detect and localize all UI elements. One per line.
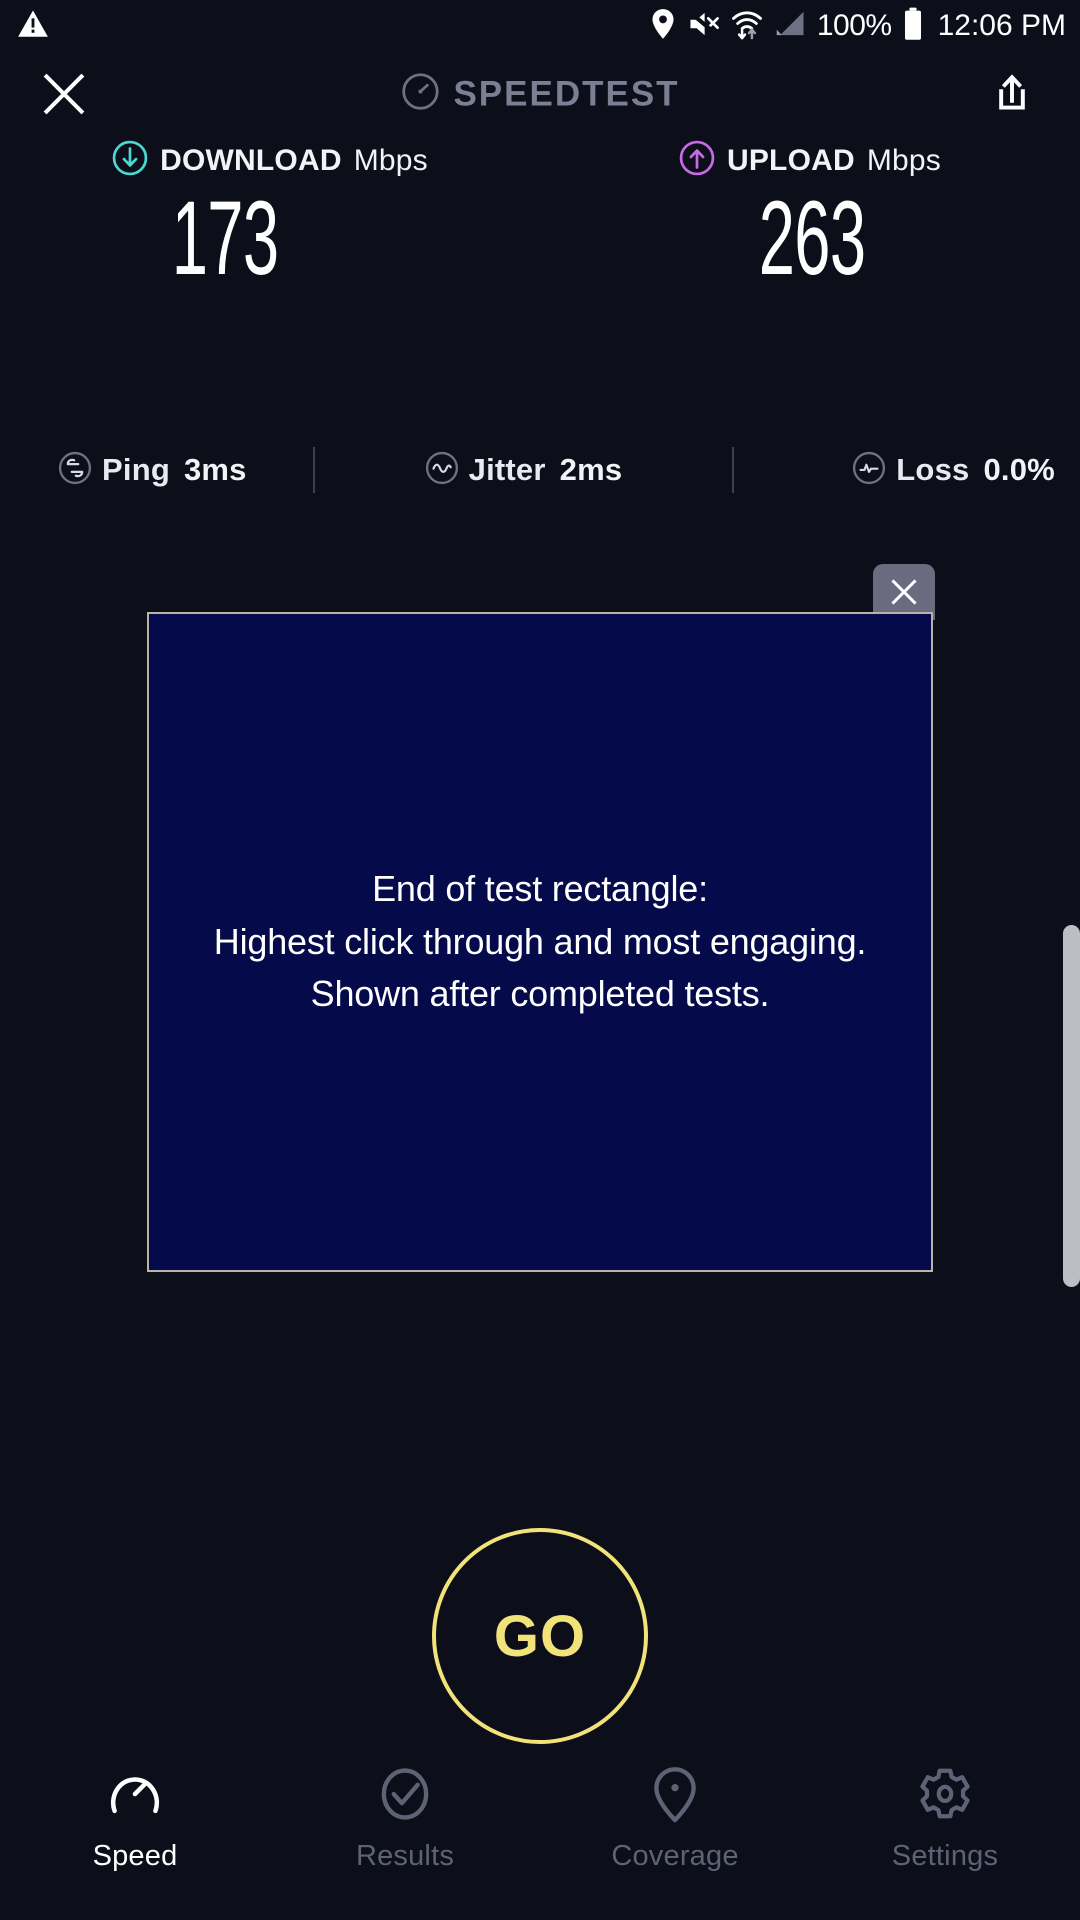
jitter-label: Jitter (469, 452, 546, 488)
nav-label-results: Results (356, 1840, 454, 1873)
metric-jitter: Jitter 2ms (425, 451, 623, 490)
location-pin-icon (644, 1762, 706, 1826)
nav-item-coverage[interactable]: Coverage (540, 1744, 810, 1920)
status-bar-clock: 12:06 PM (938, 11, 1066, 41)
metric-ping: Ping 3ms (58, 451, 247, 490)
loss-label: Loss (896, 452, 969, 488)
speedometer-icon (400, 72, 440, 117)
metrics-row: Ping 3ms Jitter 2ms (0, 440, 1080, 500)
location-pin-icon (649, 8, 677, 45)
nav-item-results[interactable]: Results (270, 1744, 540, 1920)
nav-label-speed: Speed (93, 1840, 178, 1873)
close-icon (887, 575, 921, 609)
go-button[interactable]: GO (432, 1528, 648, 1744)
volume-muted-icon (688, 9, 720, 44)
nav-label-settings: Settings (892, 1840, 998, 1873)
warning-triangle-icon (16, 7, 50, 46)
upload-label: UPLOAD (727, 144, 855, 178)
vertical-scrollbar[interactable] (1063, 925, 1080, 1287)
jitter-value: 2ms (560, 452, 623, 488)
metric-separator (732, 447, 734, 493)
download-arrow-icon (112, 140, 148, 181)
upload-header: UPLOAD Mbps (679, 140, 941, 181)
app-header: SPEEDTEST (0, 58, 1080, 130)
nav-item-speed[interactable]: Speed (0, 1744, 270, 1920)
download-header: DOWNLOAD Mbps (112, 140, 428, 181)
upload-value: 263 (759, 185, 866, 292)
status-bar: 100% 12:06 PM (0, 0, 1080, 52)
go-button-label: GO (494, 1603, 586, 1670)
upload-result: UPLOAD Mbps 263 (540, 140, 1080, 292)
share-button[interactable] (986, 68, 1038, 120)
download-value: 173 (172, 185, 279, 292)
share-icon (989, 71, 1035, 117)
gear-icon (914, 1762, 976, 1826)
results-panel: DOWNLOAD Mbps 173 UPLOAD Mbps (0, 140, 1080, 292)
loss-value: 0.0% (983, 452, 1054, 488)
close-icon (38, 68, 90, 120)
speedometer-icon (104, 1762, 166, 1826)
advertisement-banner[interactable]: End of test rectangle: Highest click thr… (147, 612, 933, 1272)
check-circle-icon (374, 1762, 436, 1826)
nav-item-settings[interactable]: Settings (810, 1744, 1080, 1920)
wifi-transfer-icon (731, 8, 763, 45)
battery-full-icon (903, 7, 923, 46)
ping-icon (58, 451, 92, 490)
loss-icon (852, 451, 886, 490)
close-button[interactable] (36, 66, 92, 122)
status-bar-left (16, 7, 50, 46)
metric-loss: Loss 0.0% (852, 451, 1055, 490)
cell-signal-icon (774, 9, 806, 44)
status-bar-right: 100% 12:06 PM (649, 7, 1066, 46)
metric-separator (313, 447, 315, 493)
speedtest-app-screen: 100% 12:06 PM (0, 0, 1080, 1920)
advertisement-text: End of test rectangle: Highest click thr… (214, 863, 866, 1021)
ping-value: 3ms (184, 452, 247, 488)
jitter-icon (425, 451, 459, 490)
download-label: DOWNLOAD (160, 144, 342, 178)
download-result: DOWNLOAD Mbps 173 (0, 140, 540, 292)
upload-unit: Mbps (867, 144, 941, 178)
upload-arrow-icon (679, 140, 715, 181)
advertisement-container: End of test rectangle: Highest click thr… (147, 612, 933, 1272)
battery-percent-label: 100% (817, 11, 892, 41)
ping-label: Ping (102, 452, 170, 488)
speed-row: DOWNLOAD Mbps 173 UPLOAD Mbps (0, 140, 1080, 292)
page-title: SPEEDTEST (453, 74, 679, 114)
brand: SPEEDTEST (400, 72, 679, 117)
nav-label-coverage: Coverage (611, 1840, 738, 1873)
download-unit: Mbps (354, 144, 428, 178)
bottom-navigation: Speed Results Coverage (0, 1744, 1080, 1920)
